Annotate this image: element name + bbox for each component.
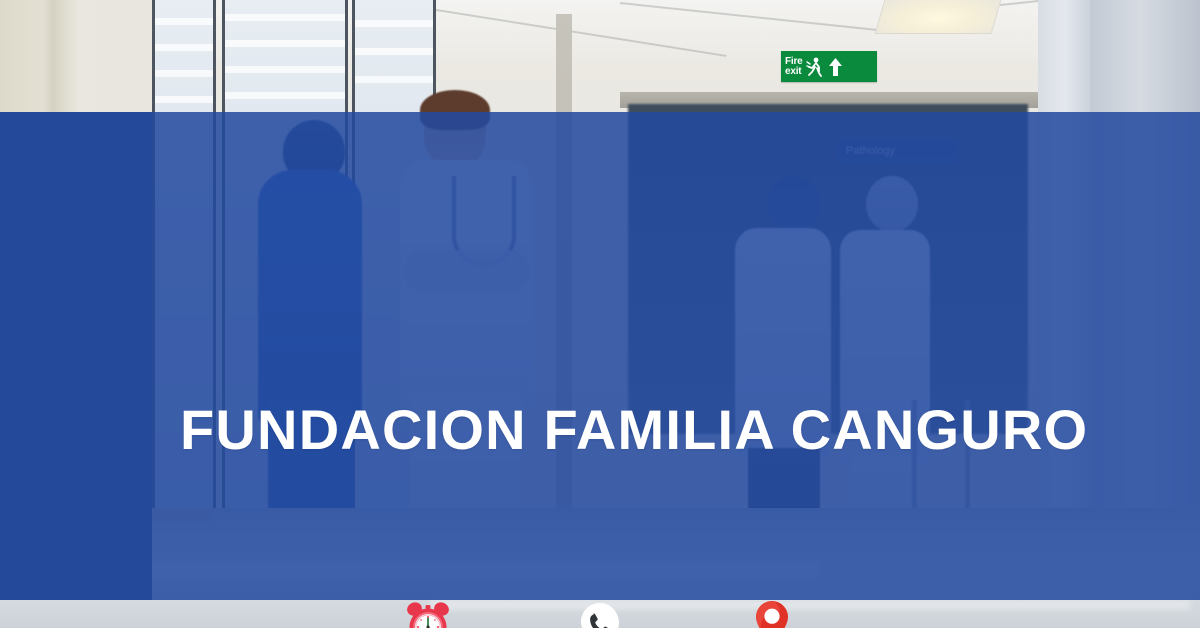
direcciones-icon-cell[interactable]: [745, 597, 799, 628]
hospital-hero-banner: Fire exit Pathology: [0, 0, 1200, 628]
whatsapp-phone-icon: [577, 601, 623, 628]
banner-content: FUNDACION FAMILIA CANGURO: [0, 112, 1200, 600]
running-man-icon: [806, 56, 824, 78]
fire-exit-line1: Fire: [785, 57, 803, 67]
telefonos-icon-cell[interactable]: [573, 597, 627, 628]
page-title: FUNDACION FAMILIA CANGURO: [180, 399, 1088, 461]
ceiling-light-panel: [875, 0, 1003, 34]
fire-exit-sign: Fire exit: [781, 51, 877, 82]
horarios-icon-cell[interactable]: [401, 597, 455, 628]
fire-exit-line2: exit: [785, 67, 803, 77]
alarm-clock-icon: [405, 600, 451, 628]
map-pin-icon: [752, 599, 792, 628]
up-arrow-icon: [827, 56, 844, 78]
quick-links-icon-row: [0, 597, 1200, 628]
